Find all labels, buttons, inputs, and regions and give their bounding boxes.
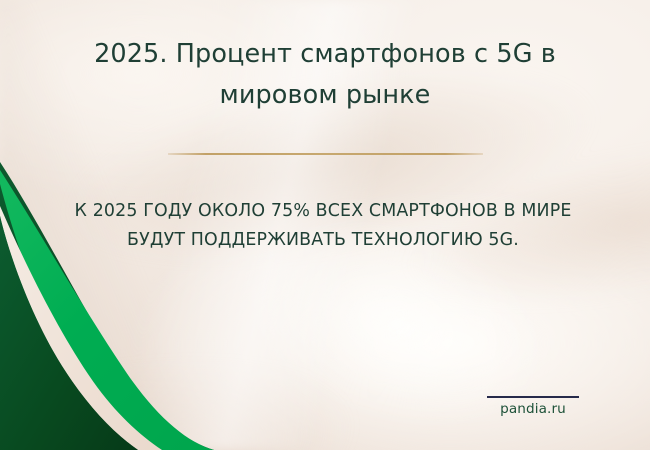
title-divider: [168, 153, 483, 155]
footer-source-label: pandia.ru: [487, 401, 579, 417]
slide-title: 2025. Процент смартфонов с 5G в мировом …: [62, 34, 588, 116]
green-swoosh-corner: [0, 150, 330, 450]
slide-canvas: 2025. Процент смартфонов с 5G в мировом …: [0, 0, 650, 450]
footer: pandia.ru: [487, 396, 579, 417]
slide-body-text: К 2025 ГОДУ ОКОЛО 75% ВСЕХ СМАРТФОНОВ В …: [62, 197, 584, 254]
footer-divider: [487, 396, 579, 398]
